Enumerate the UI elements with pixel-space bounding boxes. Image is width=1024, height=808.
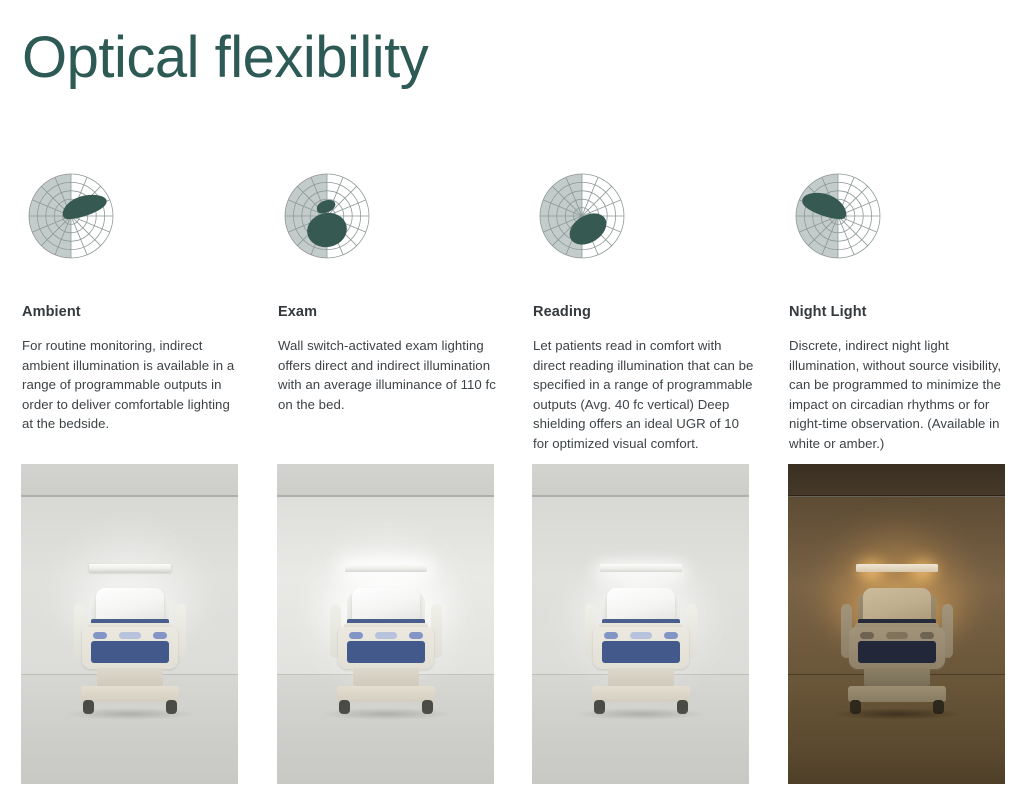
- bed-control-middle: [119, 632, 141, 639]
- scene-ceiling: [21, 464, 238, 496]
- bed-control-left: [860, 632, 874, 639]
- bed-control-left: [93, 632, 107, 639]
- scene-luminaire: [89, 564, 171, 572]
- bed-base: [337, 686, 435, 702]
- bed-control-right: [920, 632, 934, 639]
- column-body-exam: Wall switch-activated exam lighting offe…: [278, 336, 500, 414]
- feature-column-exam: Exam Wall switch-activated exam lighting…: [277, 0, 511, 808]
- bed-foot-panel: [858, 641, 936, 663]
- bed-base: [592, 686, 690, 702]
- column-body-night-light: Discrete, indirect night light illuminat…: [789, 336, 1015, 454]
- bed-foot-panel: [602, 641, 680, 663]
- scene-ceiling: [788, 464, 1005, 496]
- bed-shadow: [832, 708, 962, 720]
- bed-control-left: [349, 632, 363, 639]
- bed-control-right: [664, 632, 678, 639]
- feature-column-ambient: Ambient For routine monitoring, indirect…: [21, 0, 255, 808]
- bed-shadow: [321, 708, 451, 720]
- bed-control-right: [153, 632, 167, 639]
- bed-control-right: [409, 632, 423, 639]
- bed-control-left: [604, 632, 618, 639]
- bed-underframe: [608, 668, 674, 686]
- bed-control-middle: [886, 632, 908, 639]
- bed-control-middle: [630, 632, 652, 639]
- bed-base: [848, 686, 946, 702]
- page-root: Optical flexibility: [0, 0, 1024, 808]
- bed-control-middle: [375, 632, 397, 639]
- scene-luminaire: [856, 564, 938, 572]
- polar-distribution-exam-icon: [277, 166, 377, 266]
- column-heading-ambient: Ambient: [22, 303, 81, 321]
- bed-photo-night-light: [788, 464, 1005, 784]
- column-heading-night-light: Night Light: [789, 303, 867, 321]
- polar-distribution-reading-icon: [532, 166, 632, 266]
- polar-distribution-ambient-icon: [21, 166, 121, 266]
- scene-ceiling: [277, 464, 494, 496]
- bed-shadow: [576, 708, 706, 720]
- scene-luminaire: [600, 564, 682, 572]
- bed-foot-panel: [347, 641, 425, 663]
- column-heading-exam: Exam: [278, 303, 317, 321]
- bed-photo-exam: [277, 464, 494, 784]
- bed-underframe: [864, 668, 930, 686]
- bed-foot-panel: [91, 641, 169, 663]
- bed-base: [81, 686, 179, 702]
- column-body-reading: Let patients read in comfort with direct…: [533, 336, 755, 454]
- scene-luminaire: [345, 564, 427, 572]
- bed-shadow: [65, 708, 195, 720]
- polar-distribution-night-light-icon: [788, 166, 888, 266]
- column-heading-reading: Reading: [533, 303, 591, 321]
- feature-columns: Ambient For routine monitoring, indirect…: [0, 0, 1024, 808]
- scene-ceiling: [532, 464, 749, 496]
- bed-underframe: [353, 668, 419, 686]
- column-body-ambient: For routine monitoring, indirect ambient…: [22, 336, 244, 434]
- feature-column-reading: Reading Let patients read in comfort wit…: [532, 0, 766, 808]
- bed-photo-ambient: [21, 464, 238, 784]
- bed-photo-reading: [532, 464, 749, 784]
- bed-underframe: [97, 668, 163, 686]
- feature-column-night-light: Night Light Discrete, indirect night lig…: [788, 0, 1022, 808]
